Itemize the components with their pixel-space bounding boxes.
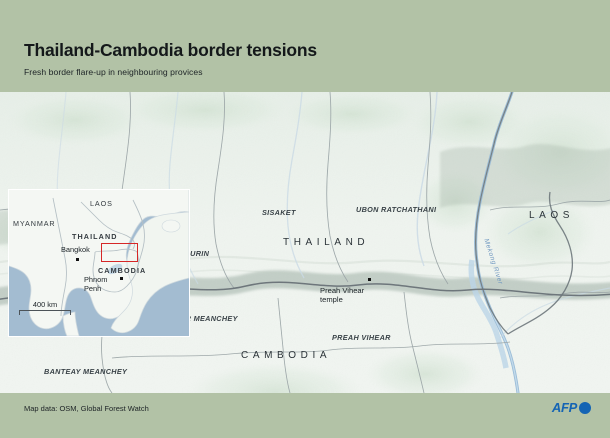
page-title: Thailand-Cambodia border tensions	[24, 40, 317, 61]
scale-bar-inset-line	[19, 310, 71, 314]
inset-city-marker-bangkok	[76, 258, 79, 261]
inset-map-graphic	[9, 190, 189, 336]
scale-bar-inset-label: 400 km	[19, 300, 71, 309]
inset-city-marker-phnom-penh	[120, 277, 123, 280]
main-map-panel: THAILAND CAMBODIA LAOS SISAKET UBON RATC…	[0, 92, 610, 393]
preah-vihear-temple-marker	[368, 278, 371, 281]
footer-bar: Map data: OSM, Global Forest Watch AFP	[0, 393, 610, 438]
map-data-credit: Map data: OSM, Global Forest Watch	[24, 404, 149, 413]
afp-logo-text: AFP	[552, 400, 577, 415]
map-figure: Thailand-Cambodia border tensions Fresh …	[0, 0, 610, 438]
afp-logo-dot-icon	[579, 402, 591, 414]
header-bar: Thailand-Cambodia border tensions Fresh …	[0, 0, 610, 92]
inset-highlight-box	[101, 243, 138, 262]
scale-bar-inset: 400 km	[19, 300, 71, 314]
inset-locator-map: MYANMAR LAOS THAILAND CAMBODIA Bangkok P…	[8, 189, 190, 337]
page-subtitle: Fresh border flare-up in neighbouring pr…	[24, 67, 203, 77]
afp-logo: AFP	[552, 400, 591, 415]
